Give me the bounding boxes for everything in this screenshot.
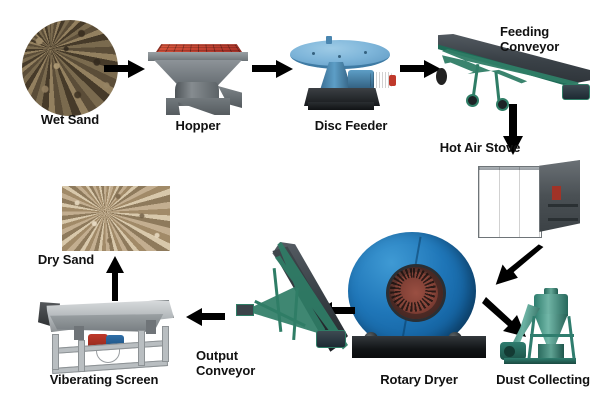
disc-feeder-plinth: [308, 102, 374, 110]
node-dust-collecting: [494, 288, 588, 372]
vibrating-screen-leg: [162, 326, 169, 362]
arrow-hopper-to-disc-feeder: [252, 58, 294, 80]
label-wet-sand: Wet Sand: [0, 112, 140, 127]
vibrating-screen-leg: [52, 334, 59, 370]
feeding-conveyor-tail-pulley: [436, 68, 447, 85]
hopper-legs: [166, 98, 230, 115]
disc-feeder-motor-cap: [389, 75, 396, 86]
rotary-dryer-base-frame: [352, 336, 486, 358]
process-flow-diagram: Wet Sand Hopper Disc Feeder: [0, 0, 600, 400]
hopper-rim: [148, 52, 248, 61]
dust-collector-brace: [530, 334, 574, 337]
feeding-conveyor-wheel: [466, 94, 479, 107]
node-disc-feeder: [290, 36, 400, 116]
arrow-output-conveyor-to-vibrating-screen: [186, 306, 226, 328]
label-output-conveyor: Output Conveyor: [196, 348, 306, 378]
vibrating-screen-leg: [138, 330, 145, 366]
dust-collector-leg: [567, 316, 575, 360]
label-hot-air-stove: Hot Air Stove: [420, 140, 540, 155]
output-conveyor-tail-support: [236, 304, 254, 316]
rotary-dryer-flights: [390, 268, 436, 312]
node-dry-sand: [62, 186, 170, 251]
dust-collector-cyclone-cone: [534, 314, 568, 346]
label-dry-sand: Dry Sand: [8, 252, 124, 267]
dust-collector-cyclone-barrel: [534, 294, 568, 316]
disc-feeder-bolt: [338, 55, 341, 58]
hot-air-stove-shelf: [548, 204, 578, 207]
output-conveyor-head-pulley: [316, 330, 346, 348]
label-feeding-conveyor: Feeding Conveyor: [500, 24, 600, 54]
node-hot-air-stove: [478, 160, 580, 238]
node-vibrating-screen: [34, 292, 184, 372]
disc-feeder-knob: [326, 36, 332, 44]
hot-air-stove-burner-port: [552, 186, 561, 200]
vibrating-screen-clamp: [74, 326, 84, 340]
dust-collector-fan-hub: [504, 346, 515, 357]
label-hopper: Hopper: [136, 118, 260, 133]
hot-air-stove-front-panel: [478, 166, 542, 238]
label-rotary-dryer: Rotary Dryer: [356, 372, 482, 387]
vibrating-screen-clamp: [146, 320, 156, 334]
hot-air-stove-shelf: [548, 218, 578, 221]
disc-feeder-bolt: [364, 51, 367, 54]
feeding-conveyor-head-pulley: [562, 84, 590, 100]
node-output-conveyor: [222, 242, 352, 362]
label-disc-feeder: Disc Feeder: [296, 118, 406, 133]
node-rotary-dryer: [348, 232, 490, 362]
vibrating-screen-leg: [78, 340, 85, 372]
arrow-wet-sand-to-hopper: [104, 58, 146, 80]
label-vibrating-screen: Viberating Screen: [26, 372, 182, 387]
node-hopper: [146, 28, 250, 116]
disc-feeder-bolt: [312, 52, 315, 55]
dust-collector-base: [504, 358, 576, 364]
label-dust-collecting: Dust Collecting: [486, 372, 600, 387]
